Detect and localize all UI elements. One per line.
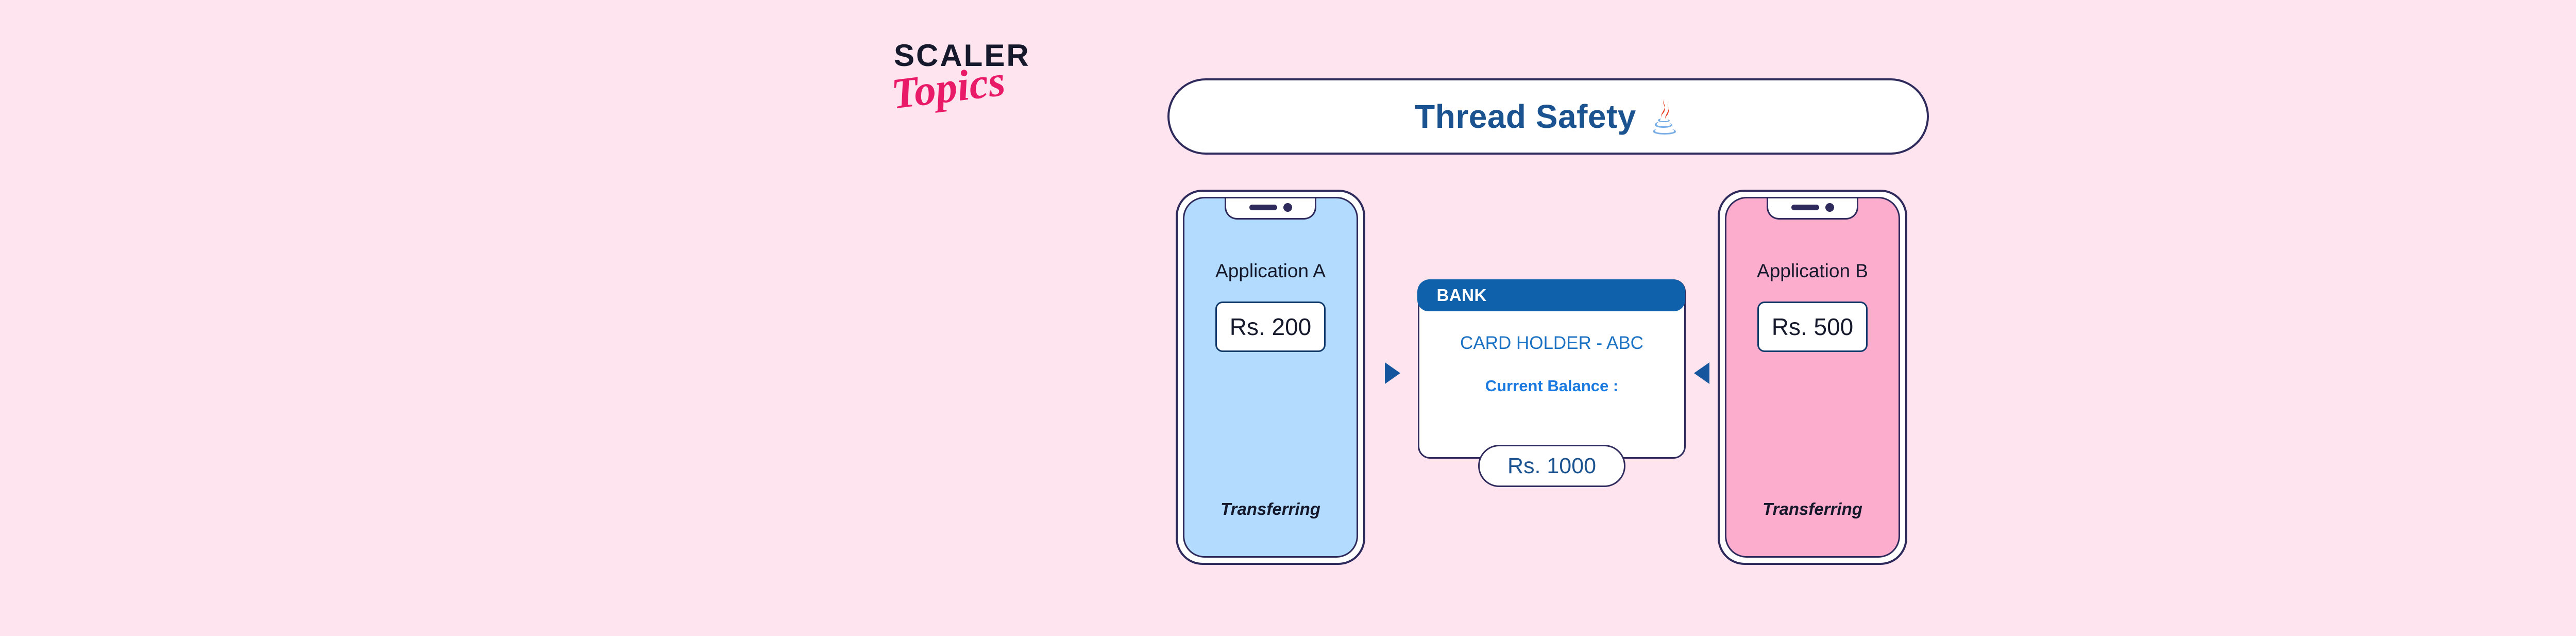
status-text-a: Transferring — [1184, 499, 1357, 519]
balance-amount: Rs. 1000 — [1507, 454, 1596, 479]
status-text-b: Transferring — [1726, 499, 1899, 519]
phone-application-a: Application A Rs. 200 Transferring — [1176, 190, 1365, 565]
amount-box-a: Rs. 200 — [1215, 302, 1326, 352]
amount-value-a: Rs. 200 — [1230, 313, 1312, 341]
amount-value-b: Rs. 500 — [1772, 313, 1854, 341]
speaker-icon — [1249, 205, 1277, 210]
camera-icon — [1825, 203, 1834, 212]
bank-card-header: BANK — [1417, 279, 1685, 311]
scaler-topics-logo: SCALER Topics — [894, 40, 1048, 128]
balance-pill: Rs. 1000 — [1478, 445, 1625, 487]
phone-screen-a: Application A Rs. 200 Transferring — [1183, 197, 1358, 558]
phone-notch — [1225, 197, 1316, 220]
amount-box-b: Rs. 500 — [1757, 302, 1868, 352]
bank-card: BANK CARD HOLDER - ABC Current Balance :… — [1418, 279, 1686, 459]
app-title-b: Application B — [1757, 260, 1868, 282]
camera-icon — [1283, 203, 1292, 212]
card-holder-text: CARD HOLDER - ABC — [1460, 333, 1643, 354]
speaker-icon — [1791, 205, 1819, 210]
arrow-left-icon — [1694, 362, 1709, 384]
arrow-right-icon — [1385, 362, 1400, 384]
balance-label: Current Balance : — [1485, 377, 1618, 395]
phone-notch — [1767, 197, 1858, 220]
app-title-a: Application A — [1215, 260, 1326, 282]
title-banner: Thread Safety — [1167, 78, 1929, 155]
phone-screen-b: Application B Rs. 500 Transferring — [1725, 197, 1900, 558]
bank-label: BANK — [1437, 286, 1487, 305]
page-title: Thread Safety — [1415, 97, 1636, 136]
java-logo-icon — [1648, 96, 1682, 137]
phone-application-b: Application B Rs. 500 Transferring — [1718, 190, 1907, 565]
